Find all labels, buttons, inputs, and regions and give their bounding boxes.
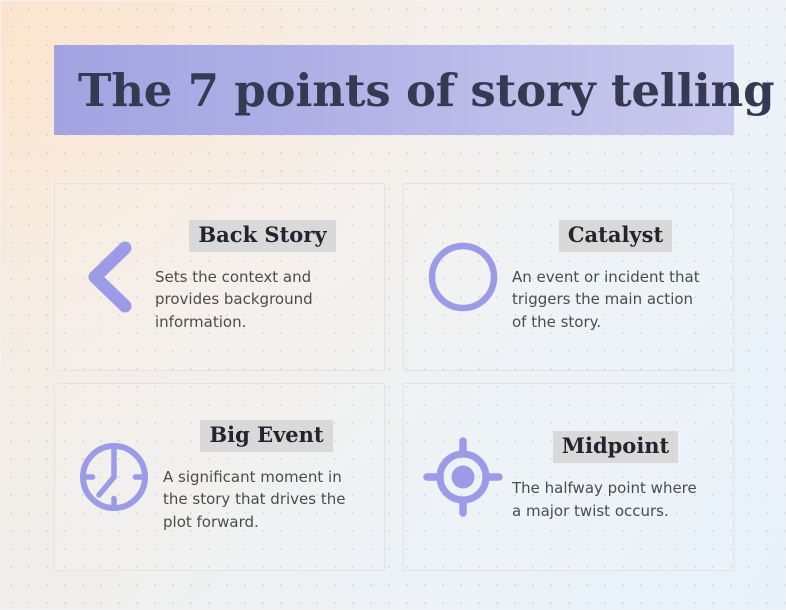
page-title: The 7 points of story telling — [78, 68, 774, 113]
crosshair-target-icon — [420, 434, 506, 520]
card-description: The halfway point where a major twist oc… — [512, 477, 702, 523]
card-heading: Catalyst — [559, 220, 672, 252]
card-body: Big Event A significant moment in the st… — [163, 420, 370, 534]
card-heading: Midpoint — [553, 431, 679, 463]
poster-content: The 7 points of story telling Back Story… — [1, 1, 785, 609]
card-description: A significant moment in the story that d… — [163, 466, 363, 534]
point-card-back-story[interactable]: Back Story Sets the context and provides… — [54, 183, 385, 371]
circle-outline-icon — [420, 234, 506, 320]
card-description: An event or incident that triggers the m… — [512, 266, 708, 334]
card-description: Sets the context and provides background… — [155, 266, 345, 334]
title-banner: The 7 points of story telling — [54, 45, 734, 135]
chevron-left-icon — [71, 234, 149, 320]
point-card-big-event[interactable]: Big Event A significant moment in the st… — [54, 383, 385, 571]
card-body: Catalyst An event or incident that trigg… — [512, 220, 719, 334]
point-card-midpoint[interactable]: Midpoint The halfway point where a major… — [403, 383, 734, 571]
clock-icon — [71, 434, 157, 520]
point-card-catalyst[interactable]: Catalyst An event or incident that trigg… — [403, 183, 734, 371]
poster-canvas: The 7 points of story telling Back Story… — [0, 0, 786, 610]
card-body: Back Story Sets the context and provides… — [155, 220, 370, 334]
points-grid: Back Story Sets the context and provides… — [54, 183, 734, 571]
card-heading: Big Event — [200, 420, 332, 452]
card-heading: Back Story — [189, 220, 335, 252]
card-body: Midpoint The halfway point where a major… — [512, 431, 719, 522]
